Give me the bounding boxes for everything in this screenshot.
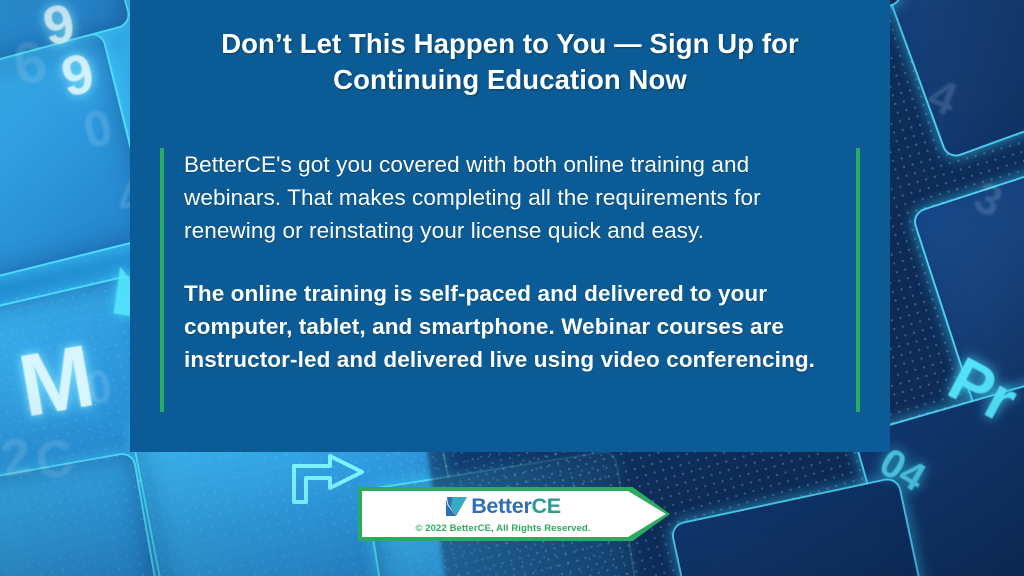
paragraph-details: The online training is self-paced and de… xyxy=(184,277,838,376)
check-mark-icon xyxy=(445,496,468,517)
badge-inner-surface: Better CE © 2022 BetterCE, All Rights Re… xyxy=(362,491,666,537)
accent-bar-right xyxy=(856,148,860,412)
brand-name-primary: Better xyxy=(471,496,531,518)
page-title: Don’t Let This Happen to You — Sign Up f… xyxy=(130,0,890,98)
promo-card: 9 6 9 0 M 2 C 0 4 Pr 4 3 04 ◣ Don’t Let … xyxy=(0,0,1024,576)
brand-logo: Better CE xyxy=(445,495,561,519)
paragraph-group: BetterCE's got you covered with both onl… xyxy=(164,148,856,376)
paragraph-intro: BetterCE's got you covered with both onl… xyxy=(184,148,838,247)
brand-name-secondary: CE xyxy=(532,496,561,518)
body-copy-block: BetterCE's got you covered with both onl… xyxy=(160,148,860,412)
content-panel: Don’t Let This Happen to You — Sign Up f… xyxy=(130,0,890,452)
footer-logo-badge: Better CE © 2022 BetterCE, All Rights Re… xyxy=(358,487,670,541)
copyright-text: © 2022 BetterCE, All Rights Reserved. xyxy=(415,523,590,534)
